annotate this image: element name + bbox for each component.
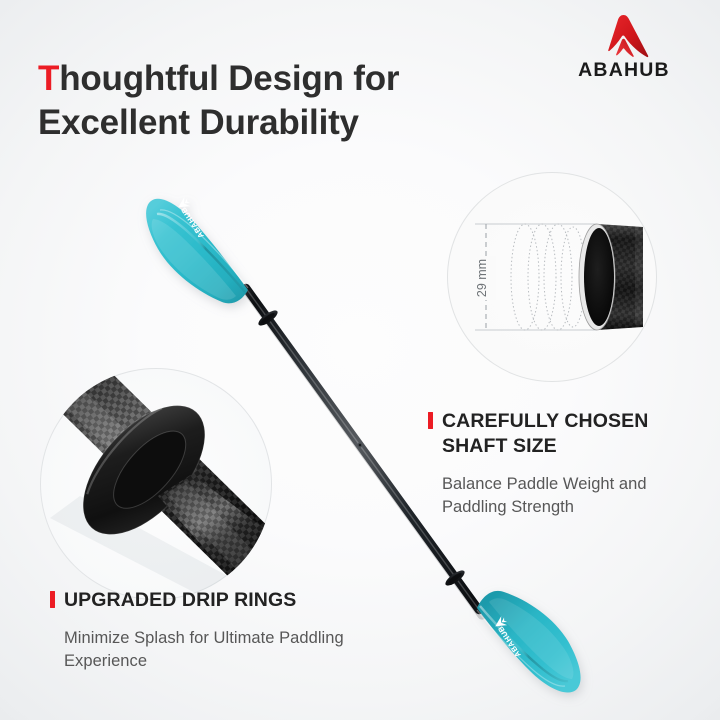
headline-first-letter: T — [38, 59, 59, 98]
page-title: Thoughtful Design for Excellent Durabili… — [38, 57, 558, 145]
carbon-shaft-cross-section-inset: 29 mm — [447, 172, 657, 382]
drip-ring-photo — [40, 368, 272, 600]
svg-text:ABAHUB: ABAHUB — [496, 624, 523, 659]
callout-title: UPGRADED DRIP RINGS — [64, 588, 296, 613]
callout-title: CAREFULLY CHOSEN SHAFT SIZE — [442, 409, 710, 459]
drip-ring-upper — [256, 308, 280, 328]
callout-subtitle: Balance Paddle Weight and Paddling Stren… — [442, 473, 710, 519]
shaft-diameter-diagram: 29 mm — [447, 172, 657, 382]
paddle-blade-bottom: ABAHUB — [477, 591, 581, 693]
abahub-arrow-logo-icon — [596, 14, 652, 58]
carbon-tube — [579, 224, 643, 330]
paddle-blade-top: ABAHUB — [146, 196, 248, 303]
blade-brand-mark-bottom: ABAHUB — [491, 615, 526, 659]
callout-heading-row: UPGRADED DRIP RINGS — [50, 588, 360, 613]
callout-carefully-chosen-shaft-size: CAREFULLY CHOSEN SHAFT SIZE Balance Padd… — [428, 409, 710, 518]
callout-upgraded-drip-rings: UPGRADED DRIP RINGS Minimize Splash for … — [50, 588, 360, 672]
callout-heading-row: CAREFULLY CHOSEN SHAFT SIZE — [428, 409, 710, 459]
brand-logo: ABAHUB — [554, 14, 694, 88]
red-accent-bar-icon — [428, 412, 433, 429]
drip-ring-closeup-inset — [40, 368, 272, 600]
headline-line-2: Excellent Durability — [38, 103, 359, 142]
brand-name: ABAHUB — [578, 61, 670, 81]
headline-line-1: houghtful Design for — [59, 59, 399, 98]
red-accent-bar-icon — [50, 591, 55, 608]
drip-ring-lower — [443, 568, 467, 588]
blade-brand-mark-top: ABAHUB — [174, 196, 209, 240]
product-feature-banner: ABAHUB Thoughtful Design for Excellent D… — [0, 0, 720, 720]
shaft-diameter-label: 29 mm — [475, 259, 489, 297]
callout-subtitle: Minimize Splash for Ultimate Paddling Ex… — [64, 627, 360, 673]
svg-text:ABAHUB: ABAHUB — [179, 205, 206, 240]
